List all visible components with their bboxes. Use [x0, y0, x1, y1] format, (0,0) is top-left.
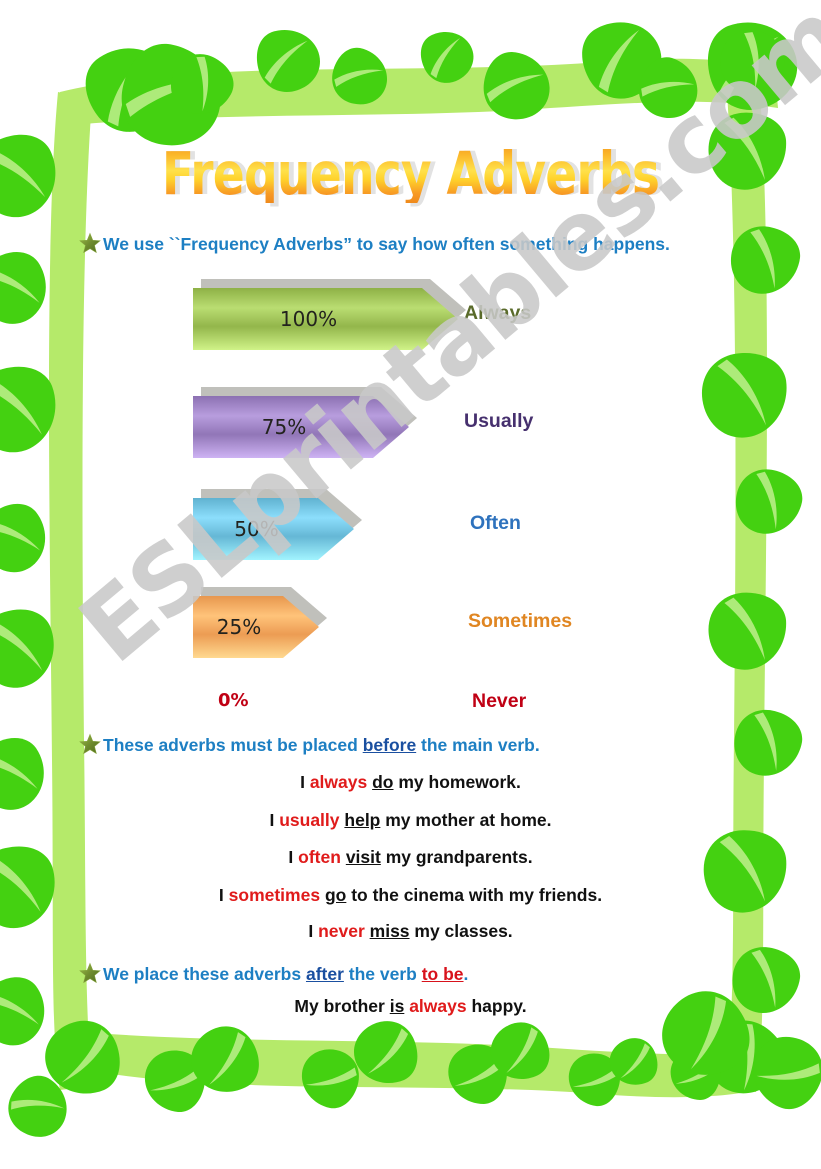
- star-icon: [78, 733, 102, 756]
- sentence-text: my mother at home.: [380, 810, 551, 830]
- rule-text-segment: These adverbs must be placed: [103, 735, 363, 755]
- intro-statement: We use ``Frequency Adverbs” to say how o…: [78, 232, 670, 255]
- frequency-arrow: 100%: [193, 288, 458, 350]
- sentence-text: I: [308, 921, 318, 941]
- example-sentence: I always do my homework.: [0, 772, 821, 793]
- sentence-text: I: [300, 772, 310, 792]
- sentence-text: I: [219, 885, 229, 905]
- sentence-text: My brother: [294, 996, 389, 1016]
- example-sentence: I usually help my mother at home.: [0, 810, 821, 831]
- rule-2-text: We place these adverbs after the verb to…: [103, 964, 468, 984]
- example-sentence: I never miss my classes.: [0, 921, 821, 942]
- arrow-body: 75%: [193, 396, 409, 458]
- frequency-row: 100%Always: [0, 288, 821, 358]
- zero-percent-value: 0%: [218, 690, 249, 711]
- verb-word: visit: [346, 847, 381, 867]
- frequency-row: 75%Usually: [0, 396, 821, 466]
- rule-1-text: These adverbs must be placed before the …: [103, 735, 540, 755]
- verb-word: go: [325, 885, 346, 905]
- sentence-text: I: [269, 810, 279, 830]
- frequency-arrow: 50%: [193, 498, 354, 560]
- sentence-text: my classes.: [410, 921, 513, 941]
- adverb-label: Usually: [464, 410, 533, 433]
- adverb-word: usually: [279, 810, 339, 830]
- rule-after-to-be: We place these adverbs after the verb to…: [78, 962, 468, 985]
- adverb-label: Sometimes: [468, 610, 572, 633]
- adverb-word: always: [409, 996, 466, 1016]
- frequency-arrow: 25%: [193, 596, 319, 658]
- sentence-text: to the cinema with my friends.: [346, 885, 602, 905]
- frequency-row: 50%Often: [0, 498, 821, 568]
- rule-keyword: before: [363, 735, 416, 755]
- percent-value: 50%: [193, 517, 354, 541]
- worksheet-page: Frequency Adverbs Frequency Adverbs We u…: [0, 0, 821, 1169]
- example-sentence: I often visit my grandparents.: [0, 847, 821, 868]
- sentence-text: happy.: [467, 996, 527, 1016]
- rule-before-main-verb: These adverbs must be placed before the …: [78, 733, 540, 756]
- adverb-word: never: [318, 921, 365, 941]
- rule-text-segment: the main verb.: [416, 735, 540, 755]
- page-title: Frequency Adverbs: [82, 144, 739, 203]
- example-sentence: My brother is always happy.: [0, 996, 821, 1017]
- adverb-word: always: [310, 772, 367, 792]
- percent-value: 100%: [193, 307, 458, 331]
- percent-value: 25%: [193, 615, 319, 639]
- star-icon: [78, 232, 102, 255]
- adverb-word: sometimes: [229, 885, 320, 905]
- rule-text-segment: .: [464, 964, 469, 984]
- sentence-text: my homework.: [394, 772, 521, 792]
- sentence-text: I: [288, 847, 298, 867]
- frequency-arrow: 75%: [193, 396, 409, 458]
- verb-word: do: [372, 772, 393, 792]
- verb-word: help: [344, 810, 380, 830]
- frequency-row: 25%Sometimes: [0, 596, 821, 666]
- adverb-label: Often: [470, 512, 521, 535]
- arrow-body: 100%: [193, 288, 458, 350]
- rule-keyword-red: to be: [422, 964, 464, 984]
- adverb-word: often: [298, 847, 341, 867]
- adverb-label: Always: [464, 302, 531, 325]
- sentence-text: my grandparents.: [381, 847, 533, 867]
- star-icon: [78, 962, 102, 985]
- intro-text: We use ``Frequency Adverbs” to say how o…: [103, 234, 670, 254]
- rule-text-segment: the verb: [344, 964, 422, 984]
- example-sentence: I sometimes go to the cinema with my fri…: [0, 885, 821, 906]
- rule-keyword: after: [306, 964, 344, 984]
- percent-value: 75%: [193, 415, 409, 439]
- verb-word: miss: [370, 921, 410, 941]
- verb-word: is: [390, 996, 405, 1016]
- zero-percent-label: Never: [472, 690, 526, 713]
- rule-text-segment: We place these adverbs: [103, 964, 306, 984]
